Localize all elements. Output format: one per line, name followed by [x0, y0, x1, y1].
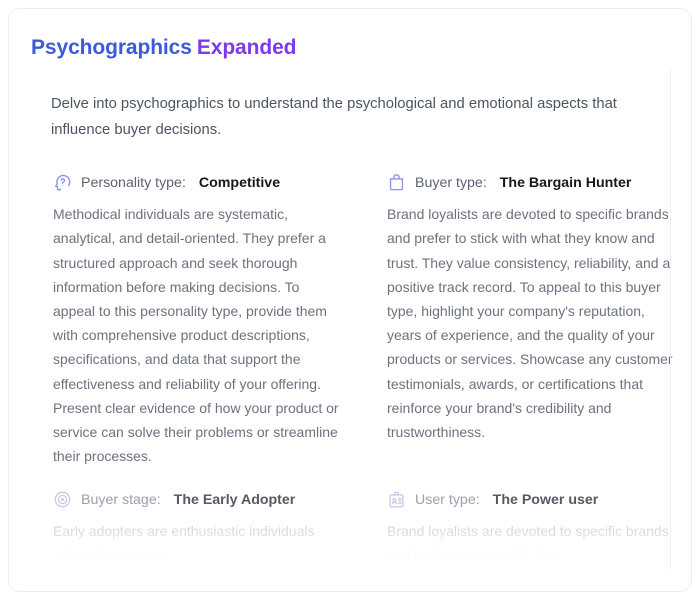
section-body: Early adopters are enthusiastic individu…: [53, 519, 339, 567]
section-user-type: User type: The Power user Brand loyalist…: [361, 490, 687, 567]
shopping-bag-icon: [387, 173, 406, 192]
section-value: The Power user: [493, 492, 599, 508]
card-content: PsychographicsExpanded Delve into psycho…: [9, 9, 691, 591]
section-body: Methodical individuals are systematic, a…: [53, 202, 339, 468]
page-title-primary: Psychographics: [31, 36, 192, 59]
section-buyer-type: Buyer type: The Bargain Hunter Brand loy…: [361, 173, 687, 468]
section-label: Buyer type:: [415, 175, 487, 191]
head-question-icon: [53, 173, 72, 192]
section-buyer-stage: Buyer stage: The Early Adopter Early ado…: [23, 490, 349, 567]
section-value: The Bargain Hunter: [500, 175, 632, 191]
section-personality-type: Personality type: Competitive Methodical…: [23, 173, 349, 468]
section-label: Buyer stage:: [81, 492, 161, 508]
section-header: Buyer stage: The Early Adopter: [53, 490, 349, 509]
page-title: PsychographicsExpanded: [31, 35, 669, 60]
section-header: User type: The Power user: [387, 490, 687, 509]
target-circle-icon: [53, 490, 72, 509]
psychographics-card: PsychographicsExpanded Delve into psycho…: [8, 8, 692, 592]
section-body: Brand loyalists are devoted to specific …: [387, 519, 673, 567]
scrollbar-track[interactable]: [670, 69, 671, 569]
section-body: Brand loyalists are devoted to specific …: [387, 202, 673, 444]
section-label: User type:: [415, 492, 480, 508]
page-title-secondary: Expanded: [192, 36, 297, 59]
section-label: Personality type:: [81, 175, 186, 191]
sections-grid: Personality type: Competitive Methodical…: [23, 173, 669, 568]
section-value: Competitive: [199, 175, 280, 191]
section-header: Buyer type: The Bargain Hunter: [387, 173, 687, 192]
id-badge-icon: [387, 490, 406, 509]
intro-paragraph: Delve into psychographics to understand …: [51, 92, 679, 143]
section-value: The Early Adopter: [174, 492, 296, 508]
section-header: Personality type: Competitive: [53, 173, 349, 192]
